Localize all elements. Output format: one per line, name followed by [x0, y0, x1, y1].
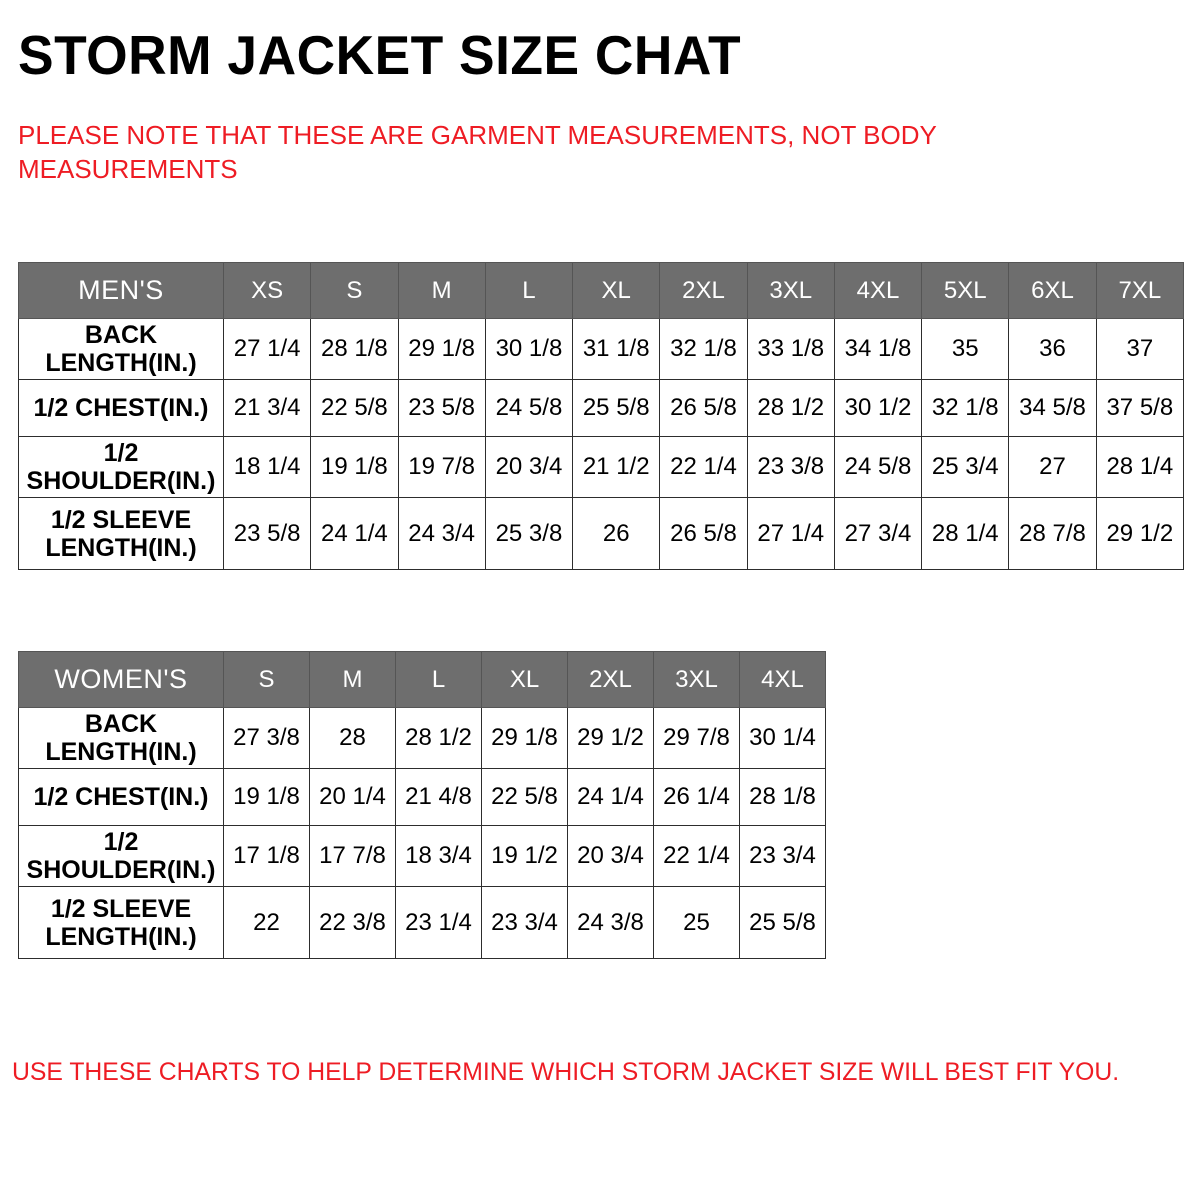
measurement-cell: 26 5/8	[660, 498, 747, 570]
table-row: 1/2 SHOULDER(IN.)18 1/419 1/819 7/820 3/…	[19, 437, 1184, 498]
measurement-cell: 24 3/8	[568, 887, 654, 959]
mens-corner-label: MEN'S	[19, 263, 224, 319]
table-row: 1/2 SLEEVELENGTH(IN.)23 5/824 1/424 3/42…	[19, 498, 1184, 570]
measurement-cell: 22 3/8	[310, 887, 396, 959]
measurement-cell: 23 3/4	[740, 826, 826, 887]
measurement-cell: 27 3/8	[224, 708, 310, 769]
measurement-cell: 24 5/8	[485, 380, 572, 437]
measurement-cell: 30 1/4	[740, 708, 826, 769]
measurement-cell: 19 1/8	[224, 769, 310, 826]
measurement-cell: 23 1/4	[396, 887, 482, 959]
measurement-cell: 19 1/8	[311, 437, 398, 498]
measurement-cell: 20 3/4	[485, 437, 572, 498]
column-header-6xl: 6XL	[1009, 263, 1096, 319]
measurement-cell: 28 7/8	[1009, 498, 1096, 570]
measurement-cell: 28 1/2	[396, 708, 482, 769]
measurement-cell: 25 3/4	[922, 437, 1009, 498]
measurement-cell: 27 1/4	[224, 319, 311, 380]
measurement-cell: 23 3/4	[482, 887, 568, 959]
measurement-cell: 29 1/8	[398, 319, 485, 380]
column-header-4xl: 4XL	[740, 652, 826, 708]
column-header-7xl: 7XL	[1096, 263, 1183, 319]
column-header-3xl: 3XL	[747, 263, 834, 319]
measurement-cell: 27 1/4	[747, 498, 834, 570]
measurement-cell: 34 5/8	[1009, 380, 1096, 437]
measurement-cell: 37 5/8	[1096, 380, 1183, 437]
measurement-cell: 29 1/2	[1096, 498, 1183, 570]
column-header-4xl: 4XL	[834, 263, 921, 319]
row-label: 1/2 CHEST(IN.)	[19, 769, 224, 826]
womens-header-row: WOMEN'SSMLXL2XL3XL4XL	[19, 652, 826, 708]
mens-table-body: BACK LENGTH(IN.)27 1/428 1/829 1/830 1/8…	[19, 319, 1184, 570]
measurement-cell: 18 3/4	[396, 826, 482, 887]
mens-size-table: MEN'SXSSMLXL2XL3XL4XL5XL6XL7XL BACK LENG…	[18, 262, 1184, 570]
measurement-cell: 25 3/8	[485, 498, 572, 570]
measurement-cell: 31 1/8	[573, 319, 660, 380]
row-label: 1/2 SLEEVELENGTH(IN.)	[19, 498, 224, 570]
measurement-cell: 24 1/4	[568, 769, 654, 826]
measurement-cell: 24 3/4	[398, 498, 485, 570]
measurement-cell: 18 1/4	[224, 437, 311, 498]
measurement-cell: 21 4/8	[396, 769, 482, 826]
measurement-cell: 23 5/8	[398, 380, 485, 437]
column-header-l: L	[396, 652, 482, 708]
measurement-cell: 22 5/8	[311, 380, 398, 437]
row-label: 1/2 SHOULDER(IN.)	[19, 437, 224, 498]
measurement-cell: 33 1/8	[747, 319, 834, 380]
measurement-cell: 26 1/4	[654, 769, 740, 826]
table-row: 1/2 CHEST(IN.)21 3/422 5/823 5/824 5/825…	[19, 380, 1184, 437]
measurement-cell: 25	[654, 887, 740, 959]
measurement-cell: 30 1/8	[485, 319, 572, 380]
table-row: 1/2 SLEEVELENGTH(IN.)2222 3/823 1/423 3/…	[19, 887, 826, 959]
measurement-cell: 23 3/8	[747, 437, 834, 498]
measurement-cell: 34 1/8	[834, 319, 921, 380]
measurement-cell: 27 3/4	[834, 498, 921, 570]
mens-table-header: MEN'SXSSMLXL2XL3XL4XL5XL6XL7XL	[19, 263, 1184, 319]
measurement-cell: 29 1/2	[568, 708, 654, 769]
measurement-cell: 28 1/8	[311, 319, 398, 380]
measurement-cell: 37	[1096, 319, 1183, 380]
measurement-cell: 22 1/4	[660, 437, 747, 498]
womens-size-table: WOMEN'SSMLXL2XL3XL4XL BACK LENGTH(IN.)27…	[18, 651, 826, 959]
womens-table-header: WOMEN'SSMLXL2XL3XL4XL	[19, 652, 826, 708]
womens-table-body: BACK LENGTH(IN.)27 3/82828 1/229 1/829 1…	[19, 708, 826, 959]
measurement-cell: 35	[922, 319, 1009, 380]
measurement-cell: 28 1/4	[1096, 437, 1183, 498]
measurement-cell: 24 1/4	[311, 498, 398, 570]
column-header-xl: XL	[482, 652, 568, 708]
column-header-3xl: 3XL	[654, 652, 740, 708]
row-label: BACK LENGTH(IN.)	[19, 708, 224, 769]
measurement-cell: 20 3/4	[568, 826, 654, 887]
mens-header-row: MEN'SXSSMLXL2XL3XL4XL5XL6XL7XL	[19, 263, 1184, 319]
row-label: 1/2 SHOULDER(IN.)	[19, 826, 224, 887]
row-label: BACK LENGTH(IN.)	[19, 319, 224, 380]
measurement-cell: 21 1/2	[573, 437, 660, 498]
measurement-cell: 23 5/8	[224, 498, 311, 570]
table-row: BACK LENGTH(IN.)27 1/428 1/829 1/830 1/8…	[19, 319, 1184, 380]
measurement-cell: 22 5/8	[482, 769, 568, 826]
table-row: BACK LENGTH(IN.)27 3/82828 1/229 1/829 1…	[19, 708, 826, 769]
measurement-cell: 20 1/4	[310, 769, 396, 826]
measurement-cell: 17 7/8	[310, 826, 396, 887]
measurement-cell: 24 5/8	[834, 437, 921, 498]
column-header-s: S	[224, 652, 310, 708]
measurement-cell: 29 7/8	[654, 708, 740, 769]
measurement-cell: 25 5/8	[573, 380, 660, 437]
row-label: 1/2 SLEEVELENGTH(IN.)	[19, 887, 224, 959]
measurement-cell: 28 1/4	[922, 498, 1009, 570]
table-row: 1/2 SHOULDER(IN.)17 1/817 7/818 3/419 1/…	[19, 826, 826, 887]
measurement-cell: 29 1/8	[482, 708, 568, 769]
garment-measurement-notice: PLEASE NOTE THAT THESE ARE GARMENT MEASU…	[18, 118, 978, 186]
page-title: STORM JACKET SIZE CHAT	[18, 22, 741, 88]
size-chart-page: STORM JACKET SIZE CHAT PLEASE NOTE THAT …	[0, 0, 1200, 1200]
column-header-m: M	[398, 263, 485, 319]
column-header-xl: XL	[573, 263, 660, 319]
measurement-cell: 19 1/2	[482, 826, 568, 887]
measurement-cell: 28 1/2	[747, 380, 834, 437]
measurement-cell: 21 3/4	[224, 380, 311, 437]
measurement-cell: 17 1/8	[224, 826, 310, 887]
column-header-2xl: 2XL	[568, 652, 654, 708]
measurement-cell: 36	[1009, 319, 1096, 380]
measurement-cell: 22 1/4	[654, 826, 740, 887]
measurement-cell: 30 1/2	[834, 380, 921, 437]
measurement-cell: 26 5/8	[660, 380, 747, 437]
column-header-xs: XS	[224, 263, 311, 319]
womens-corner-label: WOMEN'S	[19, 652, 224, 708]
measurement-cell: 26	[573, 498, 660, 570]
measurement-cell: 19 7/8	[398, 437, 485, 498]
column-header-5xl: 5XL	[922, 263, 1009, 319]
column-header-2xl: 2XL	[660, 263, 747, 319]
chart-usage-notice: USE THESE CHARTS TO HELP DETERMINE WHICH…	[12, 1056, 1180, 1088]
column-header-l: L	[485, 263, 572, 319]
measurement-cell: 28	[310, 708, 396, 769]
measurement-cell: 27	[1009, 437, 1096, 498]
measurement-cell: 32 1/8	[922, 380, 1009, 437]
measurement-cell: 28 1/8	[740, 769, 826, 826]
measurement-cell: 22	[224, 887, 310, 959]
row-label: 1/2 CHEST(IN.)	[19, 380, 224, 437]
column-header-s: S	[311, 263, 398, 319]
measurement-cell: 25 5/8	[740, 887, 826, 959]
measurement-cell: 32 1/8	[660, 319, 747, 380]
table-row: 1/2 CHEST(IN.)19 1/820 1/421 4/822 5/824…	[19, 769, 826, 826]
column-header-m: M	[310, 652, 396, 708]
